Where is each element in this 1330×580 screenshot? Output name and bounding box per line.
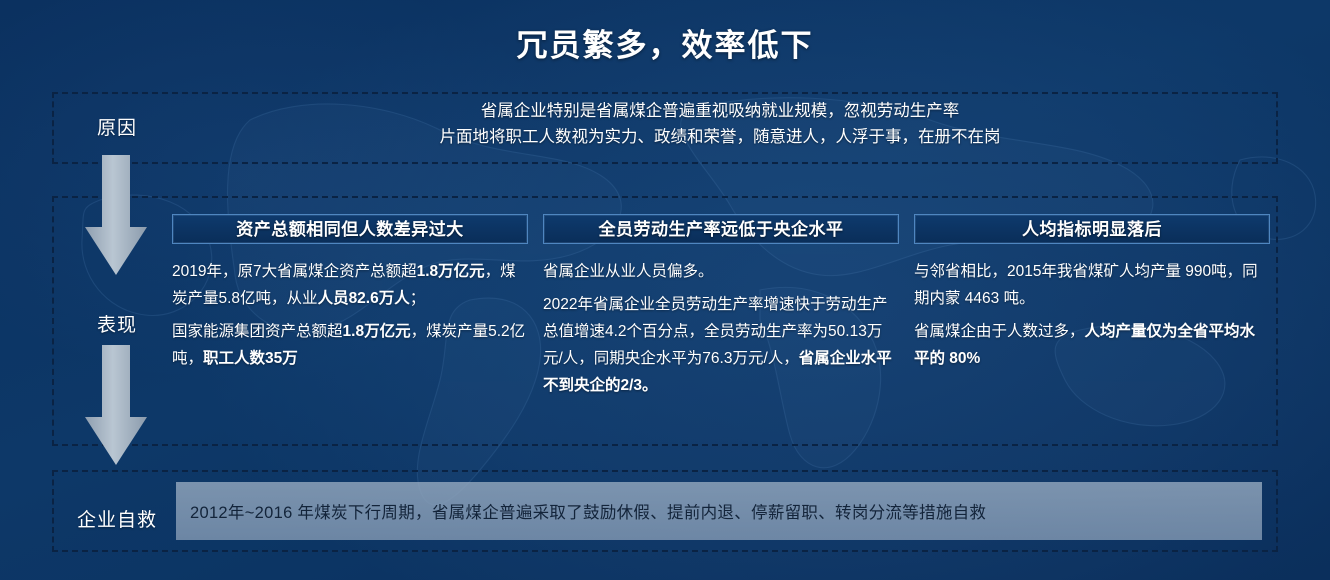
paragraph: 省属企业从业人员偏多。: [543, 258, 899, 285]
row-label-manifestation: 表现: [62, 310, 172, 337]
reason-line-1: 省属企业特别是省属煤企普遍重视吸纳就业规模，忽视劳动生产率: [180, 98, 1260, 124]
paragraph: 省属煤企由于人数过多，人均产量仅为全省平均水平的 80%: [914, 318, 1270, 372]
body-text: 国家能源集团资产总额超: [172, 323, 343, 340]
reason-text: 省属企业特别是省属煤企普遍重视吸纳就业规模，忽视劳动生产率 片面地将职工人数视为…: [180, 98, 1260, 150]
row-label-rescue: 企业自救: [55, 505, 179, 532]
column-body-2: 与邻省相比，2015年我省煤矿人均产量 990吨，同期内蒙 4463 吨。省属煤…: [914, 258, 1270, 372]
manifestation-column-2: 人均指标明显落后 与邻省相比，2015年我省煤矿人均产量 990吨，同期内蒙 4…: [914, 214, 1270, 378]
body-text: ；: [410, 290, 426, 307]
page-title: 冗员繁多，效率低下: [0, 20, 1330, 65]
manifestation-column-0: 资产总额相同但人数差异过大 2019年，原7大省属煤企资产总额超1.8万亿元，煤…: [172, 214, 528, 378]
paragraph: 2022年省属企业全员劳动生产率增速快于劳动生产总值增速4.2个百分点，全员劳动…: [543, 291, 899, 399]
arrow-down-icon-bottom: [85, 345, 147, 465]
emphasis-text: 职工人数35万: [203, 350, 298, 367]
column-body-0: 2019年，原7大省属煤企资产总额超1.8万亿元，煤炭产量5.8亿吨，从业人员8…: [172, 258, 528, 372]
rescue-text: 2012年~2016 年煤炭下行周期，省属煤企普遍采取了鼓励休假、提前内退、停薪…: [176, 499, 986, 523]
body-text: 省属企业从业人员偏多。: [543, 263, 714, 280]
column-header-2: 人均指标明显落后: [914, 214, 1270, 244]
manifestation-column-1: 全员劳动生产率远低于央企水平 省属企业从业人员偏多。2022年省属企业全员劳动生…: [543, 214, 899, 405]
body-text: 省属煤企由于人数过多，: [914, 323, 1085, 340]
paragraph: 与邻省相比，2015年我省煤矿人均产量 990吨，同期内蒙 4463 吨。: [914, 258, 1270, 312]
column-header-0: 资产总额相同但人数差异过大: [172, 214, 528, 244]
rescue-strip: 2012年~2016 年煤炭下行周期，省属煤企普遍采取了鼓励休假、提前内退、停薪…: [176, 482, 1262, 540]
row-label-reason: 原因: [62, 113, 172, 140]
reason-line-2: 片面地将职工人数视为实力、政绩和荣誉，随意进人，人浮于事，在册不在岗: [180, 124, 1260, 150]
emphasis-text: 人员82.6万人: [318, 290, 410, 307]
body-text: 与邻省相比，2015年我省煤矿人均产量 990吨，同期内蒙 4463 吨。: [914, 263, 1258, 307]
paragraph: 国家能源集团资产总额超1.8万亿元，煤炭产量5.2亿吨，职工人数35万: [172, 318, 528, 372]
paragraph: 2019年，原7大省属煤企资产总额超1.8万亿元，煤炭产量5.8亿吨，从业人员8…: [172, 258, 528, 312]
emphasis-text: 1.8万亿元: [343, 323, 411, 340]
arrow-down-icon-top: [85, 155, 147, 275]
column-body-1: 省属企业从业人员偏多。2022年省属企业全员劳动生产率增速快于劳动生产总值增速4…: [543, 258, 899, 399]
column-header-1: 全员劳动生产率远低于央企水平: [543, 214, 899, 244]
emphasis-text: 1.8万亿元: [417, 263, 485, 280]
body-text: 2019年，原7大省属煤企资产总额超: [172, 263, 417, 280]
